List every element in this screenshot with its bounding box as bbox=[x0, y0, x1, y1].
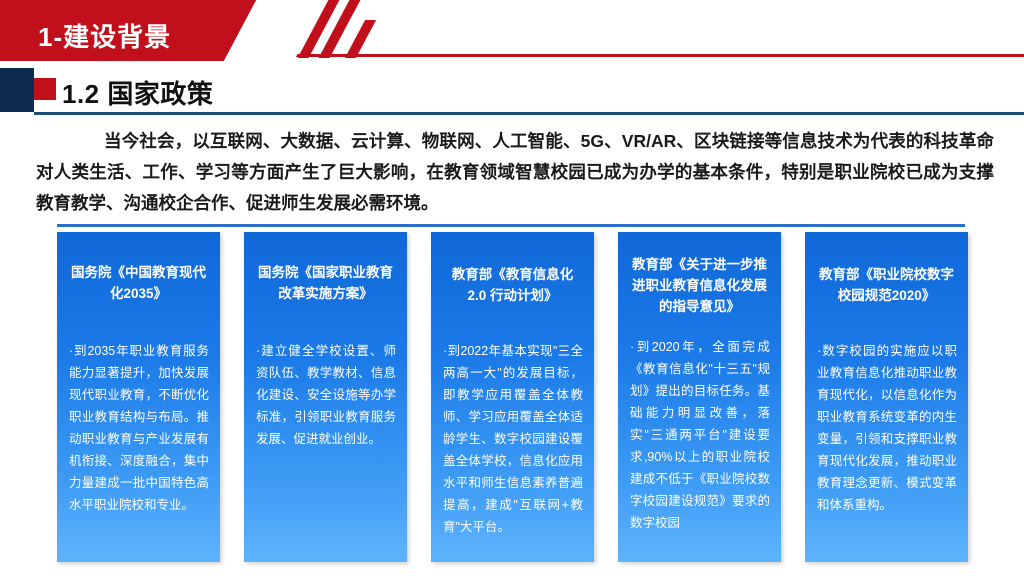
policy-card-title: 教育部《教育信息化2.0 行动计划》 bbox=[443, 264, 582, 306]
banner-underline bbox=[270, 54, 1024, 57]
policy-card-body: ·到2022年基本实现"三全两高一大"的发展目标，即教学应用覆盖全体教师、学习应… bbox=[443, 340, 583, 538]
policy-card[interactable]: 教育部《关于进一步推进职业教育信息化发展的指导意见》 ·到2020年，全面完成《… bbox=[618, 232, 781, 562]
policy-card[interactable]: 国务院《中国教育现代化2035》 ·到2035年职业教育服务能力显著提升，加快发… bbox=[57, 232, 220, 562]
slide-root: 1-建设背景 1.2 国家政策 当今社会，以互联网、大数据、云计算、物联网、人工… bbox=[0, 0, 1024, 576]
cards-divider bbox=[57, 224, 965, 227]
section-divider bbox=[34, 112, 1024, 115]
policy-card[interactable]: 教育部《教育信息化2.0 行动计划》 ·到2022年基本实现"三全两高一大"的发… bbox=[431, 232, 594, 562]
section-red-square bbox=[34, 78, 56, 100]
policy-card-title: 教育部《职业院校数字校园规范2020》 bbox=[817, 264, 956, 306]
policy-card[interactable]: 国务院《国家职业教育改革实施方案》 ·建立健全学校设置、师资队伍、教学教材、信息… bbox=[244, 232, 407, 562]
policy-card-title: 国务院《中国教育现代化2035》 bbox=[69, 262, 208, 304]
section-title: 1.2 国家政策 bbox=[62, 74, 213, 111]
policy-card-body: ·到2035年职业教育服务能力显著提升，加快发展现代职业教育，不断优化职业教育结… bbox=[69, 340, 209, 516]
decor-stripe-4 bbox=[345, 20, 376, 58]
banner-title: 1-建设背景 bbox=[38, 17, 171, 54]
policy-card-title: 国务院《国家职业教育改革实施方案》 bbox=[256, 262, 395, 304]
section-navy-block bbox=[0, 68, 34, 112]
policy-card-list: 国务院《中国教育现代化2035》 ·到2035年职业教育服务能力显著提升，加快发… bbox=[57, 232, 969, 568]
policy-card-body: ·数字校园的实施应以职业教育信息化推动职业教育现代化，以信息化作为职业教育系统变… bbox=[817, 340, 957, 516]
policy-card-body: ·建立健全学校设置、师资队伍、教学教材、信息化建设、安全设施等办学标准，引领职业… bbox=[256, 340, 396, 450]
policy-card-title: 教育部《关于进一步推进职业教育信息化发展的指导意见》 bbox=[630, 254, 769, 317]
policy-card-body: ·到2020年，全面完成《教育信息化"十三五"规划》提出的目标任务。基础能力明显… bbox=[630, 336, 770, 534]
policy-card[interactable]: 教育部《职业院校数字校园规范2020》 ·数字校园的实施应以职业教育信息化推动职… bbox=[805, 232, 968, 562]
intro-paragraph: 当今社会，以互联网、大数据、云计算、物联网、人工智能、5G、VR/AR、区块链接… bbox=[36, 126, 994, 219]
